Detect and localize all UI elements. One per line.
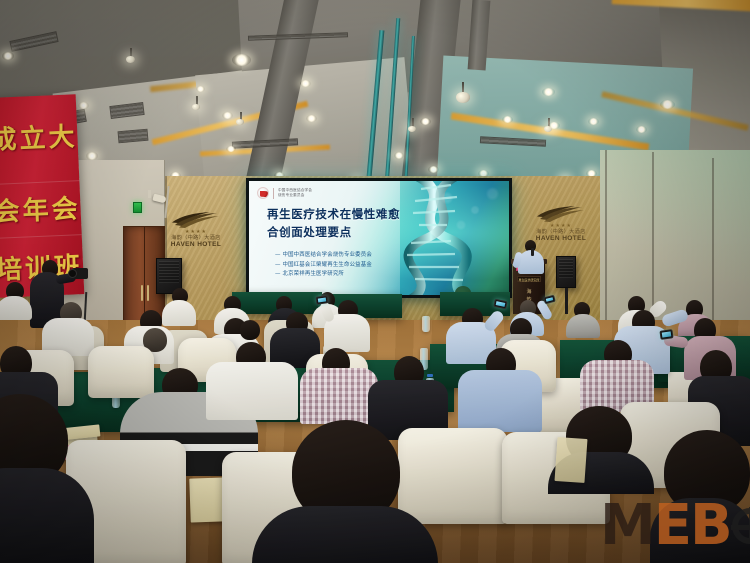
banner-line-2: 分会年会	[0, 188, 81, 230]
door-handle-right[interactable]	[147, 285, 149, 301]
exit-sign-icon	[133, 202, 142, 213]
chair-back	[88, 346, 154, 398]
hotel-name-en: HAVEN HOTEL	[524, 235, 598, 242]
speaker-grille	[559, 259, 573, 278]
audience-torso	[162, 300, 196, 326]
phone-screen	[546, 297, 554, 302]
downlight	[588, 118, 599, 125]
water-bottle	[422, 316, 430, 332]
society-emblem-icon	[257, 187, 269, 199]
camera-lens-icon	[68, 269, 77, 278]
hotel-logo-right: ★★★★ 海韵（中路）大酒店 HAVEN HOTEL	[524, 206, 598, 242]
downlight	[86, 152, 98, 160]
podium-plate: 再生医学研究所	[517, 276, 541, 282]
downlight	[222, 112, 233, 119]
wall-seam	[605, 150, 607, 348]
audience-torso	[566, 314, 600, 338]
spotlight-head-1	[126, 56, 135, 63]
conference-hall-photo: 会成立大会 分会年会 术培训班 ★★★★ 海韵（中路）大酒店 HAVEN HOT…	[0, 0, 750, 563]
phone-recording[interactable]	[659, 329, 673, 340]
downlight	[428, 166, 439, 173]
crosshair-o-icon	[732, 508, 750, 544]
phone-recording[interactable]	[316, 295, 329, 305]
downlight	[226, 146, 236, 152]
downlight	[502, 116, 513, 123]
phone-screen	[318, 297, 326, 302]
projection-screen-frame: 中国中西医结合学会 烧伤专业委员会 再生医疗技术在慢性难愈 合创面处理要点 — …	[246, 178, 512, 298]
downlight	[420, 118, 431, 125]
phone-screen	[496, 301, 506, 307]
audience-torso-plaid	[300, 368, 378, 424]
document-folder	[555, 437, 588, 483]
wave-logo-icon	[537, 206, 585, 222]
downlight	[542, 88, 555, 96]
foreground-audience-torso	[252, 506, 438, 563]
spotlight-head-2	[456, 92, 470, 103]
audience-torso	[458, 370, 542, 432]
loudspeaker-right	[556, 256, 576, 288]
bottle-cap	[427, 374, 433, 377]
hex-pattern-background	[433, 183, 503, 243]
phone-screen	[662, 331, 672, 337]
microphone-icon	[531, 248, 534, 256]
slide-logo-text: 中国中西医结合学会 烧伤专业委员会	[278, 188, 312, 197]
spotlight-head-4	[236, 119, 244, 125]
downlight	[548, 122, 560, 129]
downlight	[394, 152, 404, 159]
spotlight-head-5	[408, 126, 416, 132]
chair-back	[398, 428, 508, 524]
watermark-eb: EB	[654, 498, 731, 554]
downlight	[306, 115, 317, 122]
hotel-logo-left: ★★★★ 海韵（中路）大酒店 HAVEN HOTEL	[160, 212, 232, 248]
mebo-watermark: MEB	[600, 498, 750, 554]
speaker-grille	[159, 261, 179, 283]
downlight	[78, 102, 89, 109]
dna-helix-graphic	[385, 181, 503, 295]
door-handle-left[interactable]	[141, 285, 143, 301]
spotlight-head-3	[192, 104, 200, 110]
audience-torso	[0, 296, 32, 320]
banner-divider	[0, 180, 79, 185]
logo-divider	[273, 188, 274, 199]
downlight	[300, 80, 311, 87]
downlight	[232, 54, 251, 66]
wave-logo-icon	[172, 212, 220, 228]
banner-divider	[0, 234, 82, 239]
hotel-name-en: HAVEN HOTEL	[160, 241, 232, 248]
downlight	[660, 100, 675, 109]
downlight	[196, 86, 205, 92]
audience-head	[240, 320, 260, 340]
security-camera-mount	[148, 190, 151, 198]
document-folder	[189, 477, 225, 522]
projection-screen: 中国中西医结合学会 烧伤专业委员会 再生医疗技术在慢性难愈 合创面处理要点 — …	[249, 181, 509, 295]
watermark-m: M	[600, 498, 654, 554]
slide-organization-logo: 中国中西医结合学会 烧伤专业委员会	[257, 187, 312, 199]
banner-line-1: 会成立大会	[0, 115, 84, 158]
downlight	[636, 126, 647, 133]
audience-torso	[206, 362, 298, 420]
downlight	[2, 52, 14, 60]
speaker-stand	[565, 288, 568, 314]
